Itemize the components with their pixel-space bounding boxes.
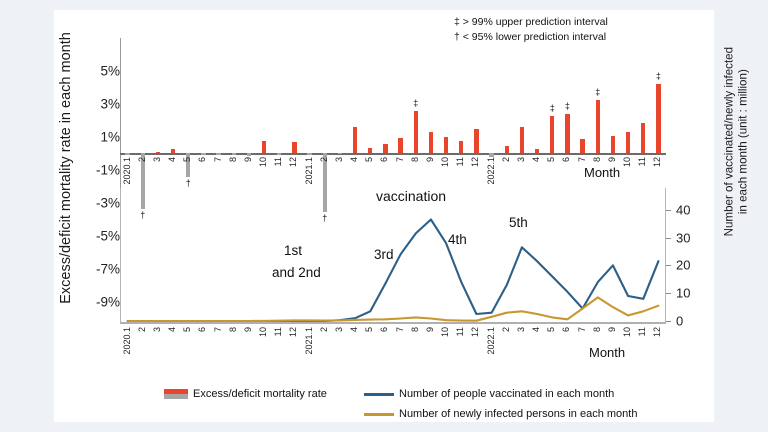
line-right-tick-mark (666, 265, 671, 266)
polyline-vaccinated (128, 220, 659, 322)
bar-5 (368, 148, 372, 153)
bar-x-tick-2021-1: 2021.1 (305, 157, 314, 185)
line-x-tick-3: 3 (153, 327, 162, 332)
bar-x-tick-8: 8 (229, 157, 238, 162)
bar-x-tick-11: 11 (456, 157, 465, 166)
bar-x-tick-6: 6 (380, 157, 389, 162)
line-x-tick-12: 12 (653, 327, 662, 337)
marker-upper-99-2022-5: ‡ (550, 103, 555, 113)
bar-10 (626, 132, 630, 153)
bar-4 (171, 149, 175, 153)
right-axis-title-line2: in each month (unit : million) (736, 12, 750, 272)
bar-11 (459, 141, 463, 153)
line-x-tick-10: 10 (441, 327, 450, 337)
marker-upper-99-2021-8: ‡ (413, 98, 418, 108)
line-x-tick-8: 8 (593, 327, 602, 332)
bar-x-tick-2: 2 (502, 157, 511, 162)
legend-label-mortality: Excess/deficit mortality rate (193, 388, 327, 400)
bar-y-tick: -3% (74, 195, 120, 210)
bar-x-tick-12: 12 (653, 157, 662, 167)
bar-3 (338, 153, 342, 154)
annotation-dose-3: 3rd (374, 247, 394, 262)
legend-label-vaccinated: Number of people vaccinated in each mont… (399, 388, 614, 400)
bar-7 (580, 139, 584, 153)
legend-item-vaccinated: Number of people vaccinated in each mont… (364, 388, 614, 400)
bar-x-tick-11: 11 (638, 157, 647, 166)
bar-x-tick-5: 5 (547, 157, 556, 162)
line-x-tick-5: 5 (365, 327, 374, 332)
bar-8 (414, 111, 418, 153)
bar-x-tick-12: 12 (471, 157, 480, 167)
bar-x-tick-2022-1: 2022.1 (487, 157, 496, 185)
bar-x-tick-9: 9 (608, 157, 617, 162)
line-x-tick-2: 2 (320, 327, 329, 332)
bar-y-tick: -5% (74, 228, 120, 243)
bar-x-tick-4: 4 (532, 157, 541, 162)
bar-10 (444, 137, 448, 153)
legend-swatch-vaccinated (364, 393, 394, 396)
line-x-tick-8: 8 (229, 327, 238, 332)
line-x-tick-7: 7 (578, 327, 587, 332)
line-right-tick-mark (666, 210, 671, 211)
bar-y-tick: 1% (74, 129, 120, 144)
bar-x-tick-2020-1: 2020.1 (123, 157, 132, 185)
line-right-spine (665, 188, 666, 324)
line-x-tick-4: 4 (350, 327, 359, 332)
bar-x-tick-11: 11 (274, 157, 283, 166)
line-x-tick-2: 2 (502, 327, 511, 332)
line-x-tick-12: 12 (289, 327, 298, 337)
bar-x-tick-9: 9 (426, 157, 435, 162)
bar-6 (565, 114, 569, 153)
line-x-axis-title: Month (589, 345, 625, 360)
line-right-tick-mark (666, 321, 671, 322)
note-upper-interval: ‡ > 99% upper prediction interval (454, 15, 608, 30)
marker-upper-99-2022-8: ‡ (595, 87, 600, 97)
legend-item-infected: Number of newly infected persons in each… (364, 408, 637, 420)
line-x-tick-12: 12 (471, 327, 480, 337)
bar-y-axis-ticks: 5%3%1%-1%-3%-5%-7%-9% (68, 38, 120, 338)
bar-x-tick-7: 7 (214, 157, 223, 162)
bar-3 (156, 152, 160, 153)
line-y-axis-spine (120, 188, 121, 324)
line-right-axis-ticks: 403020100 (668, 188, 708, 324)
line-x-tick-2: 2 (138, 327, 147, 332)
line-x-tick-5: 5 (183, 327, 192, 332)
annotation-dose-2: and 2nd (272, 265, 321, 280)
bar-4 (535, 149, 539, 153)
right-axis-title-line1: Number of vaccinated/newly infected (722, 12, 736, 272)
bar-11 (641, 123, 645, 153)
line-x-tick-7: 7 (396, 327, 405, 332)
bar-y-tick: 5% (74, 63, 120, 78)
bar-y-tick: 3% (74, 96, 120, 111)
line-right-tick-label: 40 (676, 202, 702, 217)
line-x-tick-8: 8 (411, 327, 420, 332)
line-x-tick-4: 4 (168, 327, 177, 332)
line-x-axis-baseline (120, 322, 666, 324)
bar-4 (353, 127, 357, 153)
bar-x-tick-8: 8 (593, 157, 602, 162)
line-right-tick-mark (666, 293, 671, 294)
bar-x-tick-4: 4 (350, 157, 359, 162)
line-x-tick-11: 11 (274, 327, 283, 336)
bar-x-tick-3: 3 (153, 157, 162, 162)
bar-x-tick-9: 9 (244, 157, 253, 162)
line-x-tick-11: 11 (456, 327, 465, 336)
line-x-tick-2022-1: 2022.1 (487, 327, 496, 355)
bar-x-tick-5: 5 (183, 157, 192, 162)
bar-6 (383, 144, 387, 153)
marker-upper-99-2022-12: ‡ (656, 71, 661, 81)
line-x-tick-4: 4 (532, 327, 541, 332)
line-x-tick-3: 3 (517, 327, 526, 332)
line-right-tick-label: 10 (676, 286, 702, 301)
legend-item-mortality: Excess/deficit mortality rate (164, 388, 327, 400)
bar-x-axis-title: Month (584, 165, 620, 180)
bar-y-tick: -1% (74, 162, 120, 177)
line-x-tick-11: 11 (638, 327, 647, 336)
annotation-vaccination: vaccination (376, 188, 446, 204)
bar-7 (398, 138, 402, 153)
bar-x-tick-2: 2 (320, 157, 329, 162)
line-x-tick-5: 5 (547, 327, 556, 332)
line-x-tick-3: 3 (335, 327, 344, 332)
right-axis-title: Number of vaccinated/newly infected in e… (722, 12, 749, 272)
bar-9 (611, 136, 615, 153)
line-x-tick-10: 10 (259, 327, 268, 337)
polyline-infected (128, 297, 659, 321)
bar-x-tick-7: 7 (578, 157, 587, 162)
bar-x-tick-3: 3 (335, 157, 344, 162)
bar-12 (474, 129, 478, 153)
annotation-dose-1: 1st (284, 243, 302, 258)
line-right-tick-label: 20 (676, 258, 702, 273)
bar-12 (292, 142, 296, 153)
line-right-tick-mark (666, 238, 671, 239)
bar-x-tick-4: 4 (168, 157, 177, 162)
line-x-tick-6: 6 (380, 327, 389, 332)
line-right-tick-label: 0 (676, 314, 702, 329)
line-x-tick-9: 9 (244, 327, 253, 332)
line-x-axis-ticks: 2020.1234567891011122021.123456789101112… (120, 325, 666, 383)
bar-9 (429, 132, 433, 153)
bar-12 (656, 84, 660, 153)
bar-3 (520, 127, 524, 153)
legend-swatch-infected (364, 413, 394, 416)
bar-y-tick: -9% (74, 294, 120, 309)
bar-8 (596, 100, 600, 153)
bar-x-tick-5: 5 (365, 157, 374, 162)
line-x-tick-6: 6 (198, 327, 207, 332)
bar-x-tick-10: 10 (441, 157, 450, 167)
line-x-tick-2021-1: 2021.1 (305, 327, 314, 355)
annotation-dose-4: 4th (448, 232, 467, 247)
bar-x-tick-3: 3 (517, 157, 526, 162)
bar-5 (550, 116, 554, 153)
line-x-tick-9: 9 (426, 327, 435, 332)
bar-10 (262, 141, 266, 153)
bar-x-tick-6: 6 (198, 157, 207, 162)
line-x-tick-2020-1: 2020.1 (123, 327, 132, 355)
line-x-tick-7: 7 (214, 327, 223, 332)
bar-x-tick-8: 8 (411, 157, 420, 162)
bar-x-tick-10: 10 (623, 157, 632, 167)
line-x-tick-9: 9 (608, 327, 617, 332)
legend-label-infected: Number of newly infected persons in each… (399, 408, 637, 420)
bar-x-tick-7: 7 (396, 157, 405, 162)
bar-2 (505, 146, 509, 153)
legend-swatch-mortality (164, 389, 188, 400)
line-x-tick-10: 10 (623, 327, 632, 337)
bar-x-tick-6: 6 (562, 157, 571, 162)
bar-x-tick-2: 2 (138, 157, 147, 162)
bar-x-tick-12: 12 (289, 157, 298, 167)
line-x-tick-6: 6 (562, 327, 571, 332)
figure-panel: Excess/deficit mortality rate in each mo… (54, 10, 714, 422)
annotation-dose-5: 5th (509, 215, 528, 230)
bar-y-tick: -7% (74, 261, 120, 276)
marker-upper-99-2022-6: ‡ (565, 101, 570, 111)
bar-x-tick-10: 10 (259, 157, 268, 167)
line-right-tick-label: 30 (676, 230, 702, 245)
